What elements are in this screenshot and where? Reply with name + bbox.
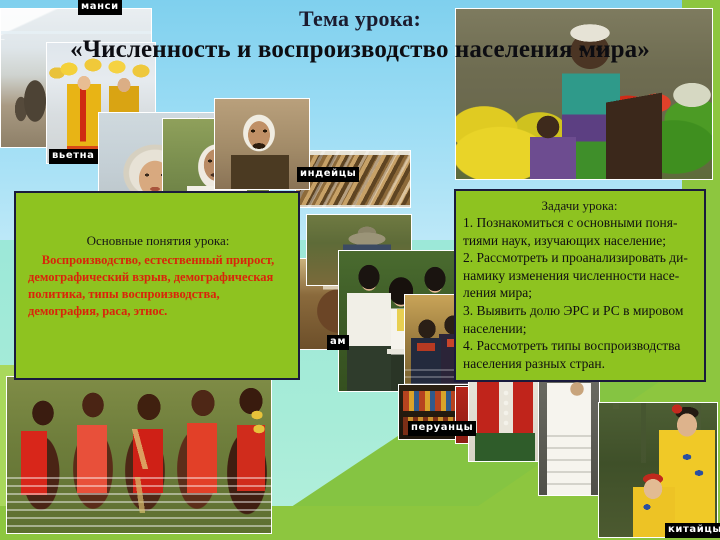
lesson-objectives-heading: Задачи урока: <box>463 198 696 214</box>
lesson-objectives-box: Задачи урока: 1. Познакомиться с основны… <box>454 189 706 382</box>
key-concepts-body: Воспроизводство, естественный прирост, д… <box>28 252 288 320</box>
caption-peruantsy: перуанцы <box>408 421 476 436</box>
key-concepts-heading: Основные понятия урока: <box>28 233 288 249</box>
objective-line-3: 2. Рассмотреть и проанализировать ди- <box>463 249 696 267</box>
lesson-objectives-body: 1. Познакомиться с основными поня- тиями… <box>463 214 696 372</box>
photo-arab-sheikh <box>214 98 310 190</box>
key-concepts-line-4: демография, раса, этнос. <box>28 303 288 320</box>
objective-line-5: ления мира; <box>463 284 696 302</box>
key-concepts-line-3: политика, типы воспроизводства, <box>28 286 288 303</box>
key-concepts-line-1: Воспроизводство, естественный прирост, <box>28 252 288 269</box>
caption-vietnam: вьетна <box>49 149 98 164</box>
caption-amerikantsy: ам <box>327 335 349 350</box>
objective-line-7: населении; <box>463 320 696 338</box>
objective-line-1: 1. Познакомиться с основными поня- <box>463 214 696 232</box>
photo-folk-costume-vest <box>468 380 540 462</box>
photo-african-woman-market <box>455 8 713 180</box>
caption-kitaytsy: китайцы <box>665 523 720 538</box>
photo-flamenco-white-dress <box>538 378 600 496</box>
objective-line-6: 3. Выявить долю ЭРС и РС в мировом <box>463 302 696 320</box>
photo-maasai-dancers <box>6 376 272 534</box>
caption-indeytsy: индейцы <box>297 167 359 182</box>
objective-line-2: тиями наук, изучающих население; <box>463 232 696 250</box>
objective-line-9: населения разных стран. <box>463 355 696 373</box>
photo-chinese-costume-father-child <box>598 402 718 538</box>
objective-line-4: намику изменения численности насе- <box>463 267 696 285</box>
key-concepts-box: Основные понятия урока: Воспроизводство,… <box>14 191 300 380</box>
objective-line-8: 4. Рассмотреть типы воспроизводства <box>463 337 696 355</box>
slide-canvas: манси вьетна индейцы ам перуанцы китайцы… <box>0 0 720 540</box>
key-concepts-line-2: демографический взрыв, демографическая <box>28 269 288 286</box>
caption-mansi: манси <box>78 0 122 15</box>
